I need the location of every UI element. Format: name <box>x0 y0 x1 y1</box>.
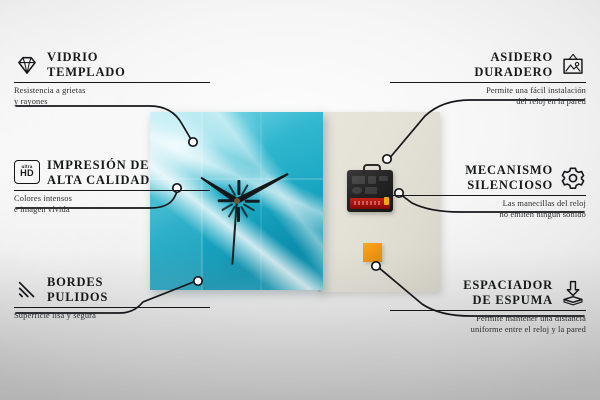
feature-divider <box>14 307 210 308</box>
mechanism-detail <box>352 176 365 184</box>
feature-description-line1: Las manecillas del reloj <box>390 199 586 210</box>
feature-description-line1: Superficie lisa y segura <box>14 311 210 322</box>
clock-tick <box>244 199 259 202</box>
mechanism-detail <box>379 176 388 181</box>
clock-battery <box>350 198 390 209</box>
feature-title: MECANISMO SILENCIOSO <box>465 163 553 192</box>
feature-title-line1: VIDRIO <box>47 50 126 65</box>
feature-title-line2: DE ESPUMA <box>463 293 553 308</box>
feature-vidrio-templado: VIDRIO TEMPLADO Resistencia a grietas y … <box>14 50 210 107</box>
feature-title-line1: BORDES <box>47 275 108 290</box>
mechanism-detail <box>365 187 377 194</box>
clock-hand-cap <box>234 198 240 204</box>
feature-description-line1: Permite mantener una distancia <box>390 314 586 325</box>
feature-divider <box>14 190 210 191</box>
mechanism-detail <box>368 176 376 184</box>
feature-title-line1: ASIDERO <box>474 50 553 65</box>
feature-impresion-alta-calidad: ultra HD IMPRESIÓN DE ALTA CALIDAD Color… <box>14 158 210 215</box>
battery-terminal <box>384 197 389 205</box>
feature-description-line1: Permite una fácil instalación <box>390 86 586 97</box>
polished-edges-icon <box>14 277 40 303</box>
mechanism-detail <box>352 187 362 194</box>
glass-seam-vertical <box>260 112 262 290</box>
feature-description-line1: Resistencia a grietas <box>14 86 210 97</box>
feature-title-line2: TEMPLADO <box>47 65 126 80</box>
feature-espaciador-de-espuma: ESPACIADOR DE ESPUMA Permite mantener un… <box>390 278 586 335</box>
feature-divider <box>14 82 210 83</box>
feature-asidero-duradero: ASIDERO DURADERO Permite una fácil insta… <box>390 50 586 107</box>
feature-title: ASIDERO DURADERO <box>474 50 553 79</box>
feature-title: BORDES PULIDOS <box>47 275 108 304</box>
feature-description-line2: e imagen vívida <box>14 205 210 216</box>
feature-title-line2: PULIDOS <box>47 290 108 305</box>
clock-mechanism <box>347 170 393 212</box>
feature-header: ESPACIADOR DE ESPUMA <box>390 278 586 307</box>
feature-title-line2: ALTA CALIDAD <box>47 173 150 188</box>
battery-label <box>354 201 380 205</box>
mechanism-hook <box>363 164 381 174</box>
hd-badge-main-label: HD <box>20 169 34 179</box>
feature-header: ASIDERO DURADERO <box>390 50 586 79</box>
feature-title-line2: DURADERO <box>474 65 553 80</box>
feature-header: VIDRIO TEMPLADO <box>14 50 210 79</box>
clock-tick <box>237 180 240 195</box>
feature-description-line2: uniforme entre el reloj y la pared <box>390 325 586 336</box>
diamond-icon <box>14 52 40 78</box>
feature-divider <box>390 310 586 311</box>
feature-title-line2: SILENCIOSO <box>465 178 553 193</box>
ultra-hd-badge-icon: ultra HD <box>14 160 40 186</box>
feature-title-line1: ESPACIADOR <box>463 278 553 293</box>
feature-bordes-pulidos: BORDES PULIDOS Superficie lisa y segura <box>14 275 210 322</box>
feature-title-line1: IMPRESIÓN DE <box>47 158 150 173</box>
framed-picture-hanger-icon <box>560 52 586 78</box>
feature-description-line2: del reloj en la pared <box>390 97 586 108</box>
feature-header: ultra HD IMPRESIÓN DE ALTA CALIDAD <box>14 158 210 187</box>
gear-icon <box>560 165 586 191</box>
feature-title: IMPRESIÓN DE ALTA CALIDAD <box>47 158 150 187</box>
feature-mecanismo-silencioso: MECANISMO SILENCIOSO Las manecillas del … <box>390 163 586 220</box>
foam-spacer-product <box>363 243 382 262</box>
feature-title-line1: MECANISMO <box>465 163 553 178</box>
feature-header: MECANISMO SILENCIOSO <box>390 163 586 192</box>
feature-description-line1: Colores intensos <box>14 194 210 205</box>
feature-title: VIDRIO TEMPLADO <box>47 50 126 79</box>
foam-spacer-arrow-icon <box>560 280 586 306</box>
feature-description-line2: y rayones <box>14 97 210 108</box>
feature-header: BORDES PULIDOS <box>14 275 210 304</box>
clock-minute-hand <box>235 171 289 204</box>
feature-title: ESPACIADOR DE ESPUMA <box>463 278 553 307</box>
feature-description-line2: no emiten ningún sonido <box>390 210 586 221</box>
infographic-stage: VIDRIO TEMPLADO Resistencia a grietas y … <box>0 0 600 400</box>
feature-divider <box>390 82 586 83</box>
clock-tick <box>217 199 232 202</box>
feature-divider <box>390 195 586 196</box>
